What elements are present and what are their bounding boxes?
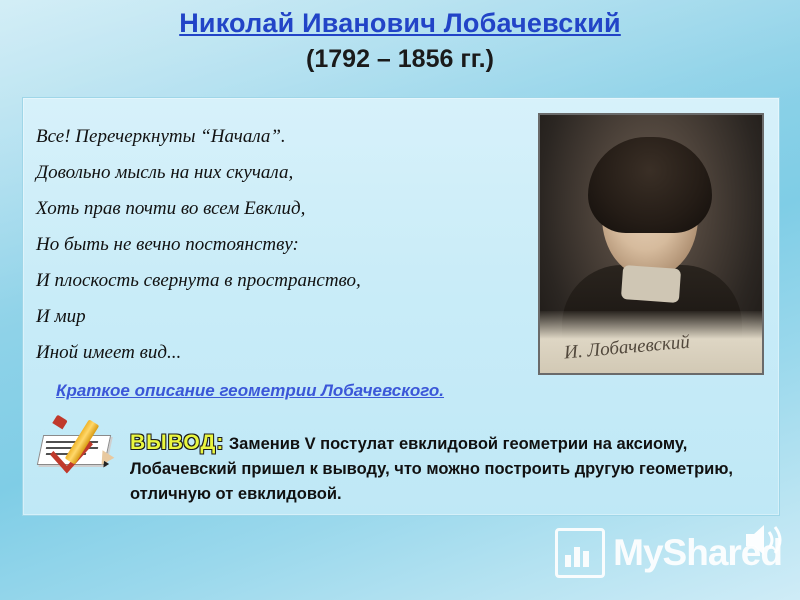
- conclusion-block: ВЫВОД: Заменив V постулат евклидовой гео…: [36, 431, 736, 507]
- geometry-description-link[interactable]: Краткое описание геометрии Лобачевского.: [56, 381, 444, 401]
- portrait-image: И. Лобачевский: [538, 113, 764, 375]
- poem-line: И плоскость свернута в пространство,: [36, 263, 506, 299]
- portrait-collar: [621, 265, 681, 303]
- notebook-pencil-icon: [36, 423, 124, 467]
- title-dates: (1792 – 1856 гг.): [0, 44, 800, 74]
- poem-line: Иной имеет вид...: [36, 335, 506, 371]
- conclusion-label: ВЫВОД:: [130, 431, 224, 454]
- poem-block: Все! Перечеркнуты “Начала”. Довольно мыс…: [36, 119, 506, 371]
- bar-chart-icon: [555, 528, 605, 578]
- title-name-link[interactable]: Николай Иванович Лобачевский: [179, 6, 621, 40]
- poem-line: Все! Перечеркнуты “Начала”.: [36, 119, 506, 155]
- poem-line: Но быть не вечно постоянству:: [36, 227, 506, 263]
- poem-line: Довольно мысль на них скучала,: [36, 155, 506, 191]
- poem-line: И мир: [36, 299, 506, 335]
- page-title: Николай Иванович Лобачевский (1792 – 185…: [0, 6, 800, 74]
- slide-canvas: Николай Иванович Лобачевский (1792 – 185…: [0, 0, 800, 600]
- poem-line: Хоть прав почти во всем Евклид,: [36, 191, 506, 227]
- speaker-icon[interactable]: [742, 520, 788, 560]
